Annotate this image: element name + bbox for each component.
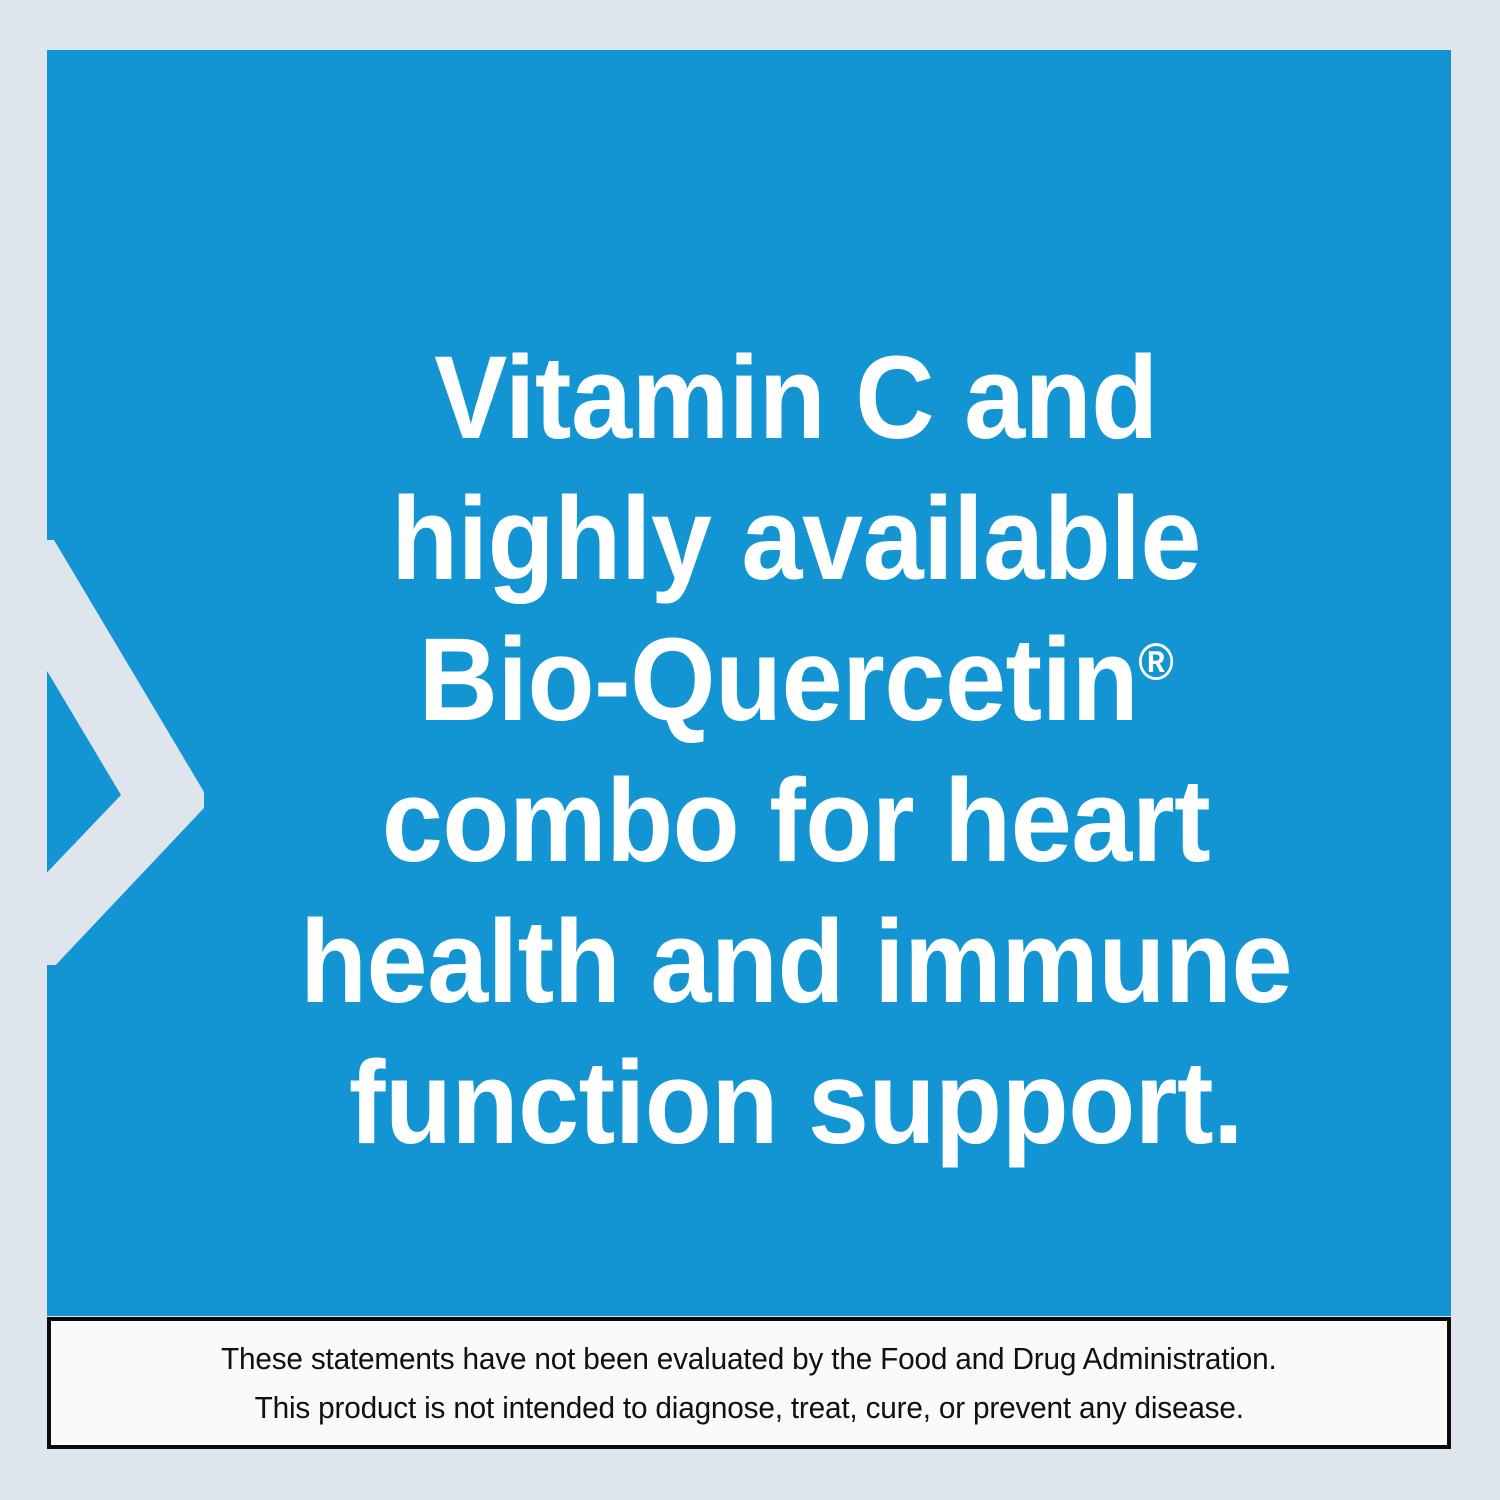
headline-line-6: function support. (143, 1033, 1449, 1174)
registered-trademark-icon: ® (1138, 634, 1173, 692)
product-benefit-panel: Vitamin C and highly available Bio-Querc… (0, 0, 1500, 1500)
hero-blue-panel: Vitamin C and highly available Bio-Querc… (47, 50, 1451, 1316)
page-headline: Vitamin C and highly available Bio-Querc… (143, 328, 1449, 1174)
headline-line-4: combo for heart (143, 751, 1449, 892)
headline-line-3: Bio-Quercetin® (143, 610, 1449, 751)
disclaimer-line-1: These statements have not been evaluated… (221, 1334, 1277, 1383)
headline-brand-name: Bio-Quercetin (419, 614, 1139, 746)
fda-disclaimer-box: These statements have not been evaluated… (47, 1317, 1451, 1449)
headline-line-5: health and immune (143, 892, 1449, 1033)
headline-line-2: highly available (143, 469, 1449, 610)
headline-line-1: Vitamin C and (143, 328, 1449, 469)
disclaimer-line-2: This product is not intended to diagnose… (254, 1383, 1243, 1432)
